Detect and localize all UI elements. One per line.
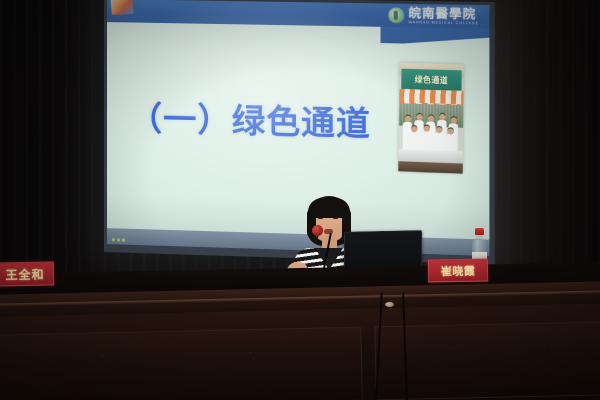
photo-banner-text: 绿色通道 (415, 73, 449, 86)
slide-photo: 绿色通道 (398, 62, 464, 173)
bottle-cap (475, 228, 484, 235)
college-name-cn: 皖南醫學院 (409, 7, 479, 20)
microphone-icon (312, 225, 323, 236)
slide-decoration-icon (110, 0, 133, 15)
slide-header-band: 皖南醫學院 WANNAN MEDICAL COLLEGE (107, 0, 489, 29)
college-logo-text: 皖南醫學院 WANNAN MEDICAL COLLEGE (409, 7, 479, 26)
speaker-eye-left (318, 217, 323, 219)
stage-panel-left (0, 327, 363, 400)
college-name-en: WANNAN MEDICAL COLLEGE (409, 21, 479, 26)
speaker-eye-right (333, 217, 338, 219)
stage-panel-right (374, 321, 600, 400)
college-crest-icon (389, 8, 405, 24)
lecture-hall-photo: 皖南醫學院 WANNAN MEDICAL COLLEGE （一）绿色通道 绿色通… (0, 0, 600, 400)
college-logo: 皖南醫學院 WANNAN MEDICAL COLLEGE (389, 7, 479, 26)
photo-ground (398, 161, 463, 174)
name-placard-left-text: 王全和 (5, 265, 44, 283)
right-wall (480, 0, 600, 300)
stage-fixture-icon (385, 302, 394, 307)
name-placard-left: 王全和 (0, 261, 54, 286)
photo-banner: 绿色通道 (401, 69, 462, 91)
name-placard-right-text: 崔晓霞 (441, 262, 476, 279)
slide-footer-markers (112, 238, 125, 241)
slide-title: （一）绿色通道 (129, 92, 371, 146)
name-placard-right: 崔晓霞 (428, 258, 488, 282)
bottle-neck (476, 234, 483, 241)
stage-front-panelling (0, 303, 600, 400)
